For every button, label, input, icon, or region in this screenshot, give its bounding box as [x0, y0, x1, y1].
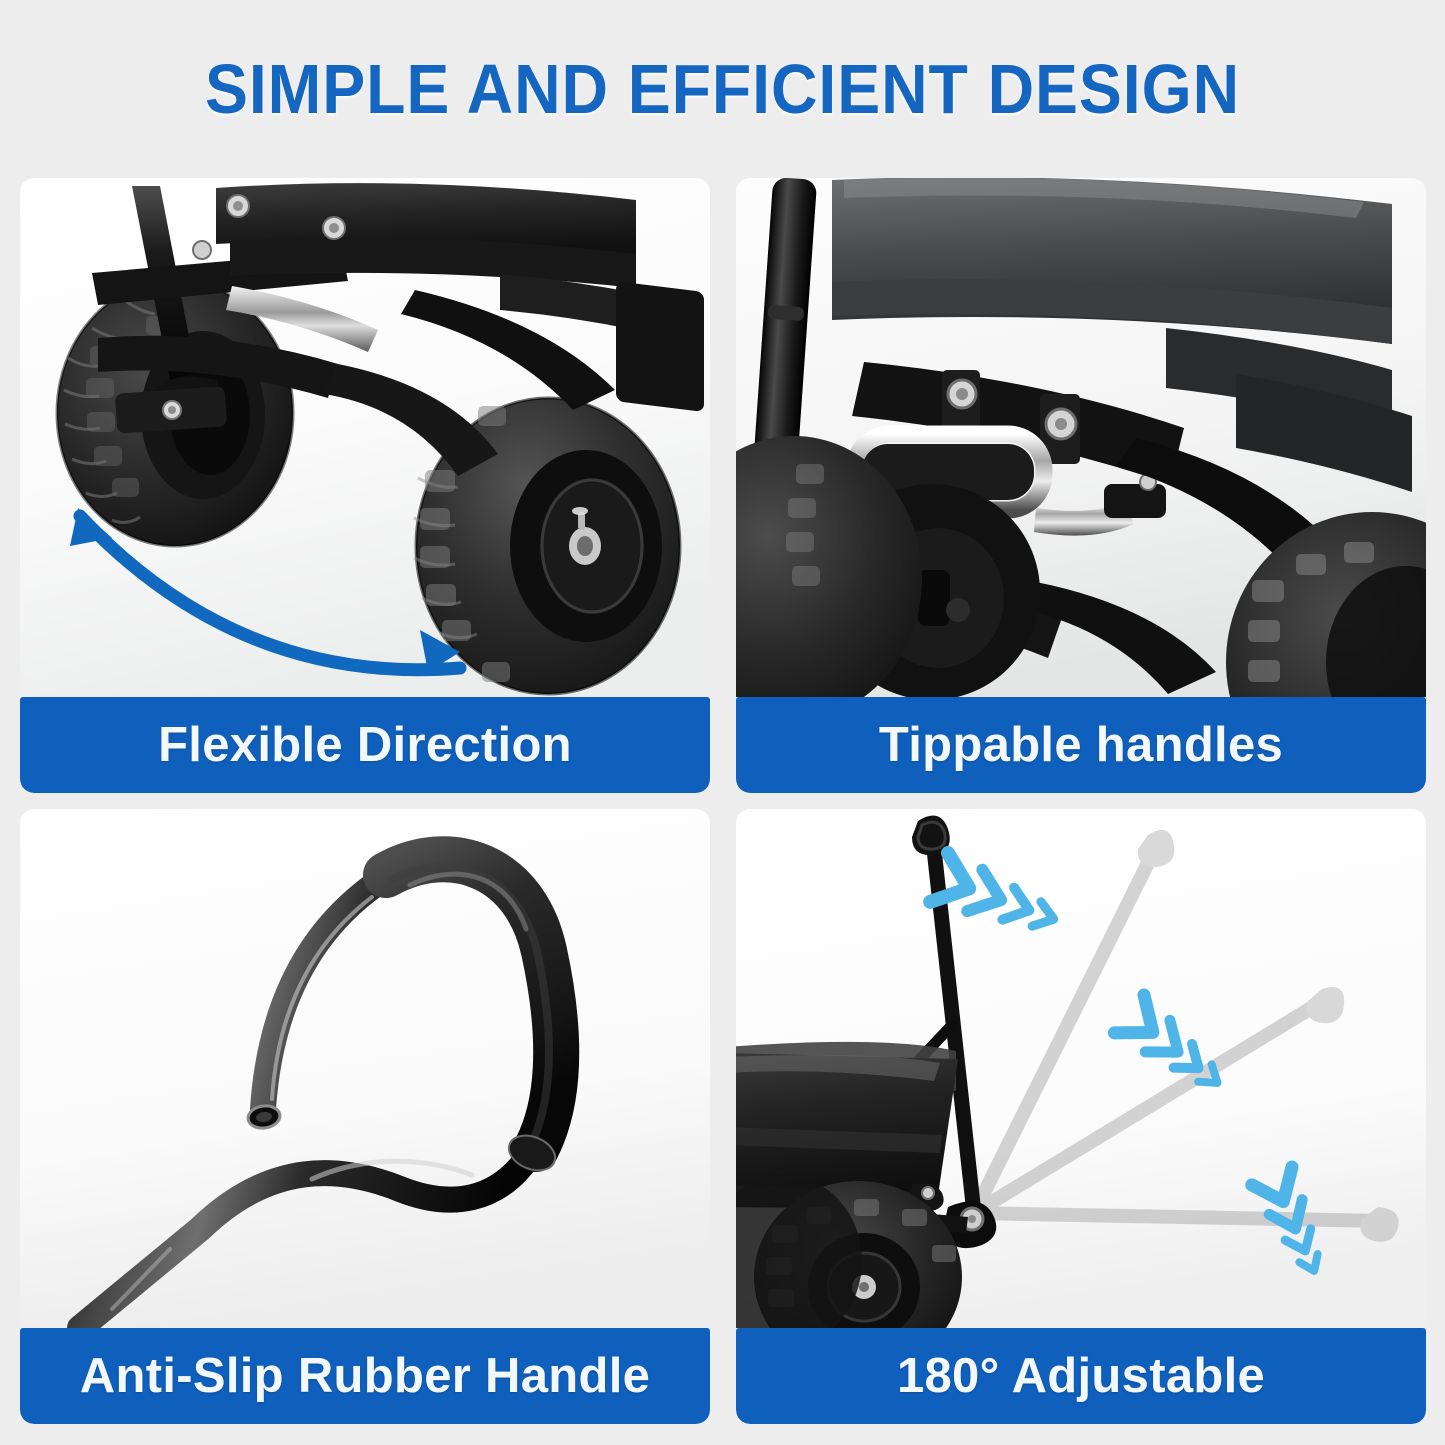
- photo-anti-slip-rubber-handle: [20, 809, 710, 1328]
- card-label-180-adjustable: 180° Adjustable: [736, 1328, 1426, 1424]
- card-label-tippable-handles: Tippable handles: [736, 697, 1426, 793]
- photo-180-adjustable: [736, 809, 1426, 1328]
- tipping-latch-illustration: [736, 178, 1426, 697]
- feature-card-flexible-direction: Flexible Direction: [20, 178, 710, 793]
- feature-card-180-adjustable: 180° Adjustable: [736, 809, 1426, 1424]
- photo-tippable-handles: [736, 178, 1426, 697]
- rubber-handle-illustration: [20, 809, 710, 1328]
- feature-card-anti-slip-rubber-handle: Anti-Slip Rubber Handle: [20, 809, 710, 1424]
- page-title: SIMPLE AND EFFICIENT DESIGN: [58, 46, 1387, 132]
- card-label-flexible-direction: Flexible Direction: [20, 697, 710, 793]
- cart-wheels-illustration: [20, 178, 710, 697]
- photo-flexible-direction: [20, 178, 710, 697]
- feature-card-tippable-handles: Tippable handles: [736, 178, 1426, 793]
- feature-card-grid: Flexible Direction: [20, 178, 1426, 1428]
- handle-range-illustration: [736, 809, 1426, 1328]
- card-label-anti-slip-rubber-handle: Anti-Slip Rubber Handle: [20, 1328, 710, 1424]
